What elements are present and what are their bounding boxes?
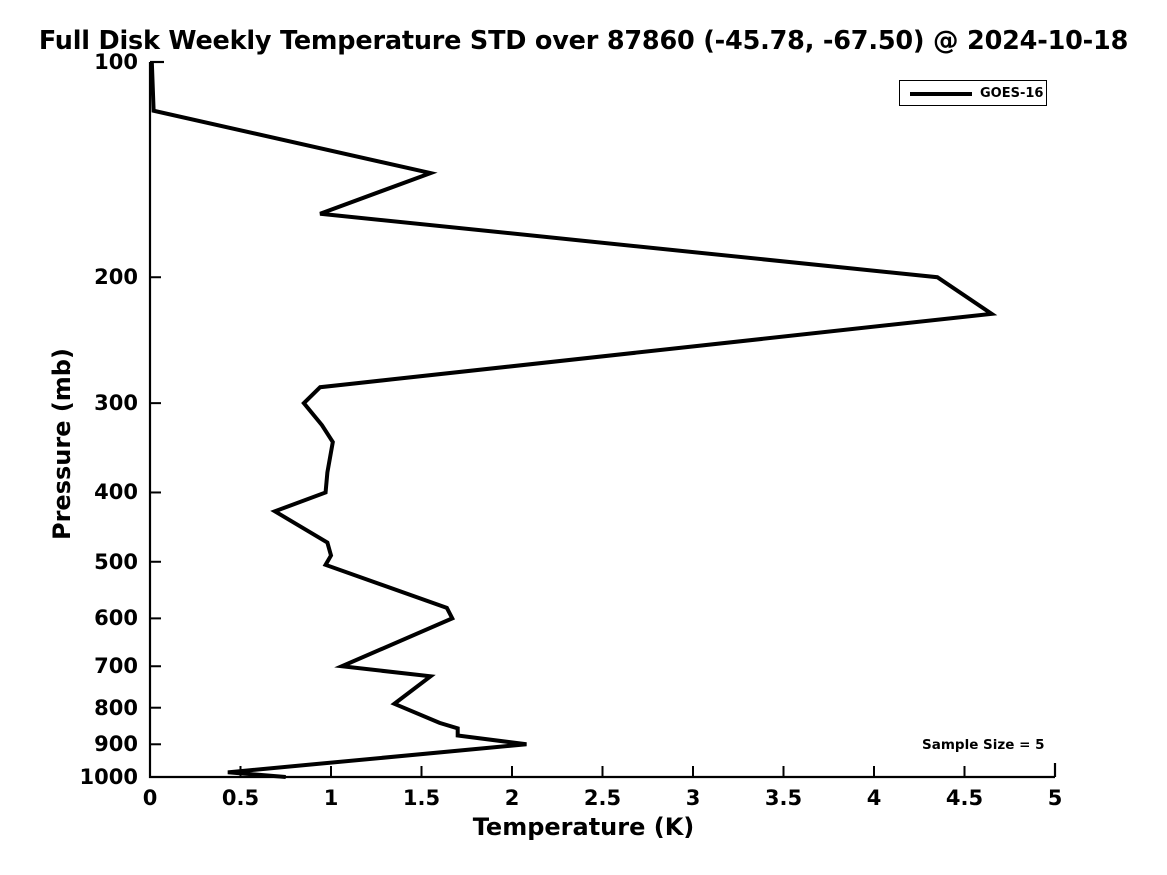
y-axis-title: Pressure (mb) xyxy=(48,348,76,540)
data-series-lines xyxy=(152,62,992,777)
x-tick-label: 5 xyxy=(1048,786,1063,810)
legend-line-swatch xyxy=(910,92,972,96)
x-tick-label: 3 xyxy=(686,786,701,810)
legend-label-goes-16: GOES-16 xyxy=(980,86,1043,101)
y-tick-label: 200 xyxy=(30,265,138,289)
legend: GOES-16 xyxy=(899,80,1047,106)
data-line-goes-16 xyxy=(152,62,992,777)
y-tick-label: 300 xyxy=(30,391,138,415)
x-tick-label: 2.5 xyxy=(584,786,621,810)
sample-size-annotation: Sample Size = 5 xyxy=(922,737,1045,753)
y-tick-label: 700 xyxy=(30,654,138,678)
y-tick-label: 400 xyxy=(30,480,138,504)
y-tick-label: 800 xyxy=(30,696,138,720)
y-tick-label: 600 xyxy=(30,606,138,630)
tick-marks xyxy=(150,277,965,777)
y-tick-label: 500 xyxy=(30,550,138,574)
x-tick-label: 1 xyxy=(324,786,339,810)
y-tick-label: 900 xyxy=(30,732,138,756)
x-tick-label: 0 xyxy=(143,786,158,810)
axes-frame xyxy=(150,62,1055,777)
axes-spines xyxy=(150,62,1055,777)
x-tick-label: 4.5 xyxy=(946,786,983,810)
x-tick-label: 0.5 xyxy=(222,786,259,810)
x-tick-label: 3.5 xyxy=(765,786,802,810)
x-tick-label: 2 xyxy=(505,786,520,810)
x-axis-title: Temperature (K) xyxy=(0,813,1167,841)
y-tick-label: 100 xyxy=(30,50,138,74)
x-tick-label: 4 xyxy=(867,786,882,810)
chart-figure: Full Disk Weekly Temperature STD over 87… xyxy=(0,0,1167,875)
x-tick-label: 1.5 xyxy=(403,786,440,810)
y-tick-label: 1000 xyxy=(30,765,138,789)
